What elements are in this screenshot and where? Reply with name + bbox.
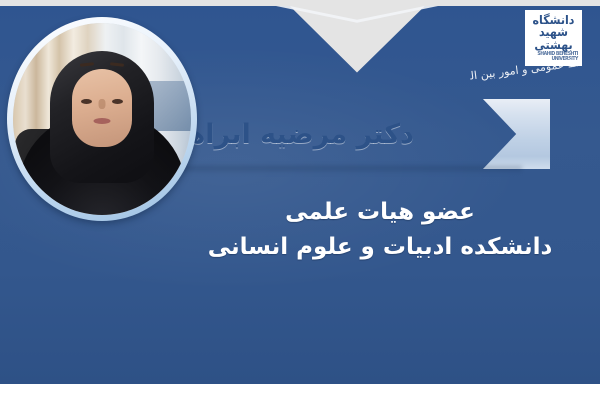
portrait-eyebrows <box>79 63 125 89</box>
faculty-department-line-2: دانشکده ادبیات و علوم انسانی <box>180 231 580 264</box>
portrait-mouth <box>94 118 111 124</box>
seal-line-2: شهید <box>539 26 568 38</box>
public-relations-script: روابط عمومی و امور بین الملل <box>468 50 579 97</box>
portrait-photo <box>7 17 197 221</box>
university-logo-block: دانشگاه شهید بهشتی SHAHID BEHESHTI UNIVE… <box>470 6 582 94</box>
faculty-role-block: عضو هیات علمی دانشکده ادبیات و علوم انسا… <box>180 196 580 263</box>
bottom-white-margin <box>0 384 600 400</box>
public-relations-script-text: روابط عمومی و امور بین الملل <box>468 54 578 84</box>
faculty-announcement-card: دکتر مرضیه ابراهیمی عضو هیات علمی دانشکد… <box>0 0 600 400</box>
seal-line-3: بهشتی <box>534 39 572 51</box>
portrait-nose <box>99 99 106 109</box>
faculty-role-line-1: عضو هیات علمی <box>180 196 580 229</box>
portrait-image <box>13 23 191 215</box>
